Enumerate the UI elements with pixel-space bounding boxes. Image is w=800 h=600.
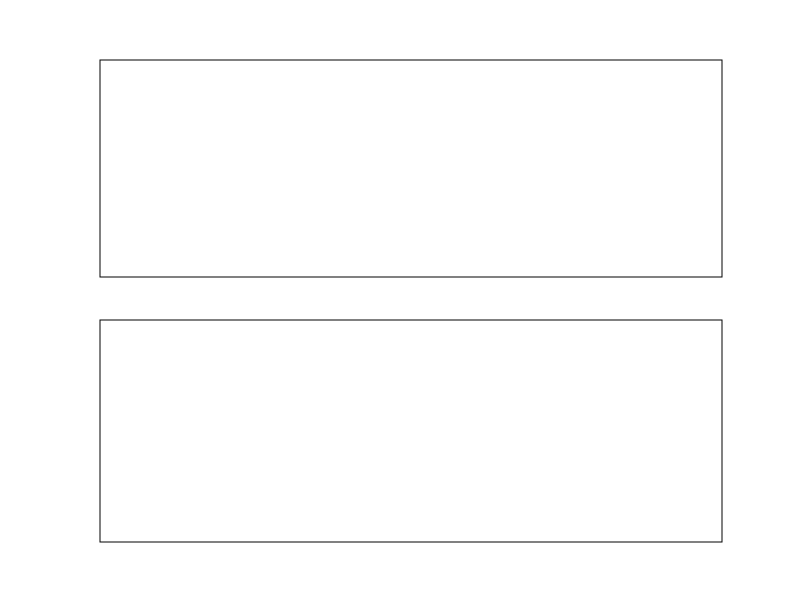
spectrum-figure [0,0,800,600]
top-panel-frame [100,60,722,277]
figure-canvas [0,0,800,600]
bottom-panel-frame [100,320,722,542]
bottom-panel [100,320,722,542]
top-panel [100,60,722,277]
